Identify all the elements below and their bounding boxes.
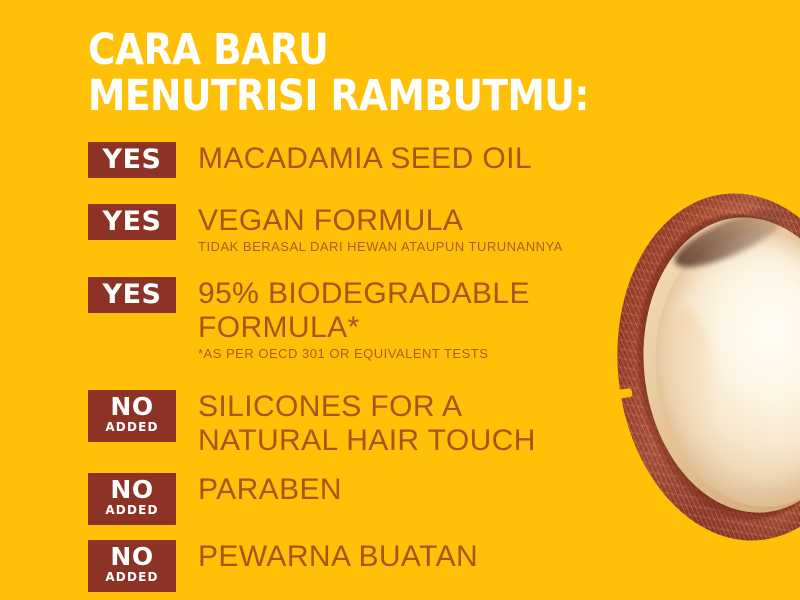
claim-text-block: SILICONES FOR A NATURAL HAIR TOUCH	[198, 390, 536, 458]
nut-lining	[629, 207, 800, 524]
badge-no-sub: ADDED	[88, 420, 176, 434]
claim-subtitle: TIDAK BERASAL DARI HEWAN ATAUPUN TURUNAN…	[198, 239, 563, 255]
badge-no-added: NO ADDED	[88, 390, 176, 442]
claim-row: NO ADDED SILICONES FOR A NATURAL HAIR TO…	[88, 390, 648, 458]
claim-text-block: PEWARNA BUATAN	[198, 540, 478, 574]
headline-line-2: MENUTRISI RAMBUTMU:	[88, 73, 728, 119]
badge-no-sub: ADDED	[88, 503, 176, 517]
claim-title: VEGAN FORMULA	[198, 204, 563, 238]
claim-row: YES 95% BIODEGRADABLE FORMULA* *AS PER O…	[88, 277, 648, 362]
badge-no-main: NO	[88, 476, 176, 503]
badge-yes: YES	[88, 142, 176, 178]
claim-title: PARABEN	[198, 473, 342, 507]
claim-title: MACADAMIA SEED OIL	[198, 142, 532, 176]
claims-list: YES MACADAMIA SEED OIL YES VEGAN FORMULA…	[88, 142, 648, 592]
claim-text-block: MACADAMIA SEED OIL	[198, 142, 532, 176]
claim-title: SILICONES FOR A NATURAL HAIR TOUCH	[198, 390, 536, 458]
claim-text-block: 95% BIODEGRADABLE FORMULA* *AS PER OECD …	[198, 277, 530, 362]
promo-poster: CARA BARU MENUTRISI RAMBUTMU: YES MACADA…	[0, 0, 800, 600]
badge-yes: YES	[88, 204, 176, 240]
claim-row: NO ADDED PARABEN	[88, 473, 648, 525]
badge-no-added: NO ADDED	[88, 540, 176, 592]
page-title: CARA BARU MENUTRISI RAMBUTMU:	[88, 27, 748, 119]
claim-row: NO ADDED PEWARNA BUATAN	[88, 540, 648, 592]
claim-row: YES MACADAMIA SEED OIL	[88, 142, 648, 178]
claim-row: YES VEGAN FORMULA TIDAK BERASAL DARI HEW…	[88, 204, 648, 255]
claim-text-block: VEGAN FORMULA TIDAK BERASAL DARI HEWAN A…	[198, 204, 563, 255]
badge-yes: YES	[88, 277, 176, 313]
nut-kernel	[642, 219, 800, 517]
claim-text-block: PARABEN	[198, 473, 342, 507]
claim-title: PEWARNA BUATAN	[198, 540, 478, 574]
badge-no-main: NO	[88, 393, 176, 420]
badge-no-added: NO ADDED	[88, 473, 176, 525]
badge-no-sub: ADDED	[88, 570, 176, 584]
claim-title: 95% BIODEGRADABLE FORMULA*	[198, 277, 530, 345]
claim-subtitle: *AS PER OECD 301 OR EQUIVALENT TESTS	[198, 346, 530, 362]
headline-line-1: CARA BARU	[88, 27, 728, 73]
nut-crevice	[668, 198, 791, 278]
badge-no-main: NO	[88, 543, 176, 570]
